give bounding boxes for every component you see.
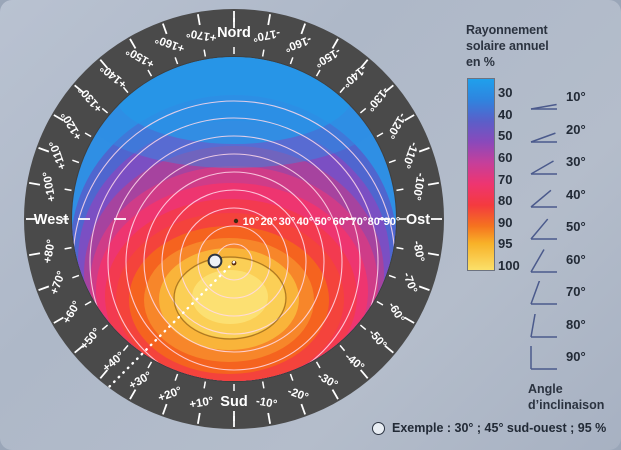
radial-tick-50: 50° bbox=[315, 216, 332, 228]
legend-title: Rayonnement solaire annuel en % bbox=[466, 22, 616, 70]
colour-ramp-label-60: 60 bbox=[498, 151, 512, 164]
tilt-angle-row-10: 10° bbox=[528, 84, 620, 117]
radial-tick-60: 60° bbox=[333, 216, 350, 228]
colour-ramp-label-90: 90 bbox=[498, 216, 512, 229]
tilt-angle-key: 10°20°30°40°50°60°70°80°90° bbox=[528, 84, 620, 377]
cardinal-west: West bbox=[34, 212, 69, 228]
colour-ramp bbox=[467, 78, 495, 271]
radial-origin-dot bbox=[234, 219, 238, 223]
figure-root: 10° 20° 30° 40° 50° 60° 70° 80° 90° -170… bbox=[0, 0, 621, 450]
cardinal-south: Sud bbox=[220, 394, 247, 410]
tilt-angle-caption: Angle d’inclinaison bbox=[528, 382, 621, 413]
colour-ramp-label-100: 100 bbox=[498, 259, 520, 272]
radial-tick-80: 80° bbox=[368, 216, 385, 228]
cardinal-east: Ost bbox=[406, 212, 430, 228]
example-caption: Exemple : 30° ; 45° sud-ouest ; 95 % bbox=[372, 421, 606, 435]
colour-ramp-label-50: 50 bbox=[498, 129, 512, 142]
radial-tick-labels: 10° 20° 30° 40° 50° 60° 70° 80° 90° bbox=[243, 216, 401, 228]
tilt-angle-row-40: 40° bbox=[528, 182, 620, 215]
tilt-angle-label-10: 10° bbox=[566, 90, 586, 103]
tilt-angle-row-80: 80° bbox=[528, 312, 620, 345]
tilt-angle-label-90: 90° bbox=[566, 350, 586, 363]
tilt-angle-row-30: 30° bbox=[528, 149, 620, 182]
tilt-angle-row-70: 70° bbox=[528, 279, 620, 312]
tilt-angle-label-50: 50° bbox=[566, 220, 586, 233]
radial-tick-20: 20° bbox=[261, 216, 278, 228]
diagram-svg: 10° 20° 30° 40° 50° 60° 70° 80° 90° -170… bbox=[8, 2, 460, 442]
colour-ramp-label-95: 95 bbox=[498, 237, 512, 250]
tilt-angle-label-70: 70° bbox=[566, 285, 586, 298]
tilt-angle-icon-20 bbox=[528, 119, 562, 145]
tilt-angle-row-20: 20° bbox=[528, 117, 620, 150]
tilt-angle-row-50: 50° bbox=[528, 214, 620, 247]
tilt-angle-icon-60 bbox=[528, 249, 562, 275]
tilt-angle-label-20: 20° bbox=[566, 123, 586, 136]
colour-ramp-label-40: 40 bbox=[498, 108, 512, 121]
tilt-angle-icon-50 bbox=[528, 216, 562, 242]
colour-ramp-label-30: 30 bbox=[498, 86, 512, 99]
radial-tick-40: 40° bbox=[297, 216, 314, 228]
tilt-angle-icon-90 bbox=[528, 346, 562, 372]
radial-tick-70: 70° bbox=[351, 216, 368, 228]
radial-tick-90: 90° bbox=[384, 216, 401, 228]
example-marker[interactable] bbox=[209, 255, 222, 268]
tilt-angle-label-40: 40° bbox=[566, 188, 586, 201]
tilt-angle-icon-40 bbox=[528, 184, 562, 210]
tilt-angle-row-60: 60° bbox=[528, 247, 620, 280]
radial-tick-10: 10° bbox=[243, 216, 260, 228]
colour-ramp-label-70: 70 bbox=[498, 173, 512, 186]
tilt-angle-icon-30 bbox=[528, 151, 562, 177]
radial-tick-30: 30° bbox=[279, 216, 296, 228]
tilt-angle-icon-80 bbox=[528, 314, 562, 340]
polar-sun-path-diagram: 10° 20° 30° 40° 50° 60° 70° 80° 90° -170… bbox=[8, 2, 460, 442]
tilt-angle-icon-10 bbox=[528, 86, 562, 112]
colour-ramp-label-80: 80 bbox=[498, 194, 512, 207]
tilt-angle-label-30: 30° bbox=[566, 155, 586, 168]
tilt-angle-label-80: 80° bbox=[566, 318, 586, 331]
tilt-angle-icon-70 bbox=[528, 281, 562, 307]
tilt-angle-row-90: 90° bbox=[528, 344, 620, 377]
example-caption-text: Exemple : 30° ; 45° sud-ouest ; 95 % bbox=[392, 421, 606, 435]
circle-marker-icon bbox=[372, 422, 385, 435]
tilt-angle-label-60: 60° bbox=[566, 253, 586, 266]
legend-panel: Rayonnement solaire annuel en % 30405060… bbox=[466, 22, 616, 422]
